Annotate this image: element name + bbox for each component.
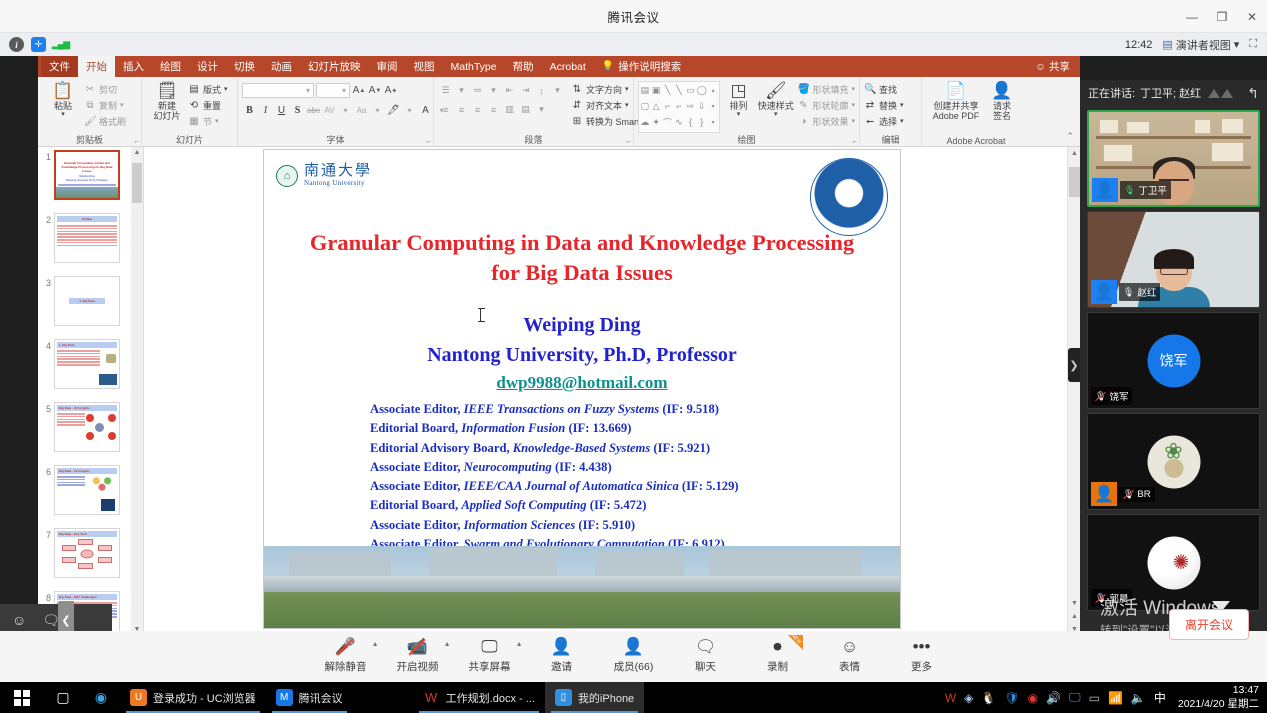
lightbulb-icon: 💡: [602, 61, 614, 72]
role-impact-factor: (IF: 9.518): [662, 402, 719, 416]
format-painter-label: 格式刷: [99, 115, 126, 128]
strikethrough-button[interactable]: abc: [306, 103, 321, 118]
role-impact-factor: (IF: 13.669): [568, 421, 631, 435]
share-label: 共享: [1049, 59, 1070, 74]
unmute-label: 解除静音: [325, 659, 367, 674]
find-label: 查找: [879, 83, 897, 96]
university-name-en: Nantong University: [304, 179, 372, 187]
shadow-button[interactable]: S: [290, 103, 305, 118]
tab-view[interactable]: 视图: [406, 56, 443, 77]
create-share-pdf-label: 创建并共享 Adobe PDF: [933, 101, 980, 122]
audio-options-caret-icon[interactable]: ▲: [372, 641, 379, 648]
ppt-body: 1 Granular Computing in Data and Knowled…: [38, 147, 1080, 636]
shape-more-up-icon[interactable]: ▴: [712, 87, 715, 94]
shape-outline-icon: ✎: [797, 100, 809, 111]
thumbnail-item-3[interactable]: 3 1. Big Data: [38, 273, 130, 336]
qq-tray-icon[interactable]: 🐧: [981, 691, 996, 705]
shape-more-down-icon[interactable]: ▾: [712, 103, 715, 110]
participant-badge: 🎙 BR: [1119, 487, 1155, 502]
cloud-shape-icon[interactable]: ☁: [640, 117, 649, 128]
role-journal: Neurocomputing: [464, 460, 552, 474]
clear-formatting-icon[interactable]: A✦: [384, 83, 398, 98]
role-journal: Knowledge-Based Systems: [513, 441, 650, 455]
avatar: [1147, 435, 1200, 488]
thumbnail-item-1[interactable]: 1 Granular Computing in Data and Knowled…: [38, 147, 130, 210]
flag-tray-icon[interactable]: ◈: [964, 691, 973, 705]
numbering-icon[interactable]: ≔: [470, 83, 485, 98]
shape-effects-button[interactable]: ◑ 形状效果 ▾: [797, 114, 855, 128]
taskbar-app-wps-doc[interactable]: W 工作规划.docx - ...: [413, 682, 545, 713]
tencent-meeting-icon: M: [276, 689, 293, 706]
highlight-caret-icon[interactable]: ▾: [402, 103, 417, 118]
triangle-shape-icon[interactable]: △: [653, 101, 660, 112]
decrease-indent-icon[interactable]: ⇤: [502, 83, 517, 98]
taskbar-app-label: 腾讯会议: [299, 690, 343, 706]
author-affiliation: Nantong University, Ph.D, Professor: [274, 340, 890, 370]
copy-button[interactable]: ⧉ 复制 ▾: [84, 98, 126, 112]
nantong-university-logo: ⌂ 南通大學 Nantong University: [276, 164, 372, 187]
left-brace-shape-icon[interactable]: {: [689, 117, 692, 127]
copy-label: 复制: [99, 99, 117, 112]
previous-slide-icon[interactable]: ▲: [1068, 610, 1080, 623]
right-arrow-shape-icon[interactable]: ⇨: [687, 101, 695, 112]
ribbon-group-font: ▾ ▾ A▲ A▼ A✦ B I U S abc AV ▾ Aa: [238, 77, 434, 147]
shape-outline-caret-icon: ▾: [851, 101, 855, 109]
quick-styles-button[interactable]: 🖌 快速样式 ▾: [757, 79, 794, 119]
presenter-view-label: 演讲者视图: [1176, 37, 1231, 53]
share-screen-button[interactable]: 🖵 共享屏幕 ▲: [463, 637, 517, 674]
role-journal: Information Sciences: [464, 518, 576, 532]
spacing-label: AV: [324, 106, 334, 115]
author-email[interactable]: dwp9988@hotmail.com: [274, 370, 890, 396]
thumbnail-1[interactable]: Granular Computing in Data and Knowledge…: [54, 150, 120, 200]
participant-name: 郭晨: [1109, 591, 1128, 605]
role-title: Associate Editor,: [370, 460, 461, 474]
role-impact-factor: (IF: 5.472): [590, 498, 647, 512]
arc-shape-icon[interactable]: ⌒: [663, 116, 672, 129]
role-title: Editorial Advisory Board,: [370, 441, 510, 455]
role-line: Editorial Board, Applied Soft Computing …: [370, 496, 900, 515]
iphone-icon: ▯: [555, 689, 572, 706]
thumbnail-7[interactable]: Big Data - Key Tech: [54, 528, 120, 578]
role-line: Associate Editor, Information Sciences (…: [370, 516, 900, 535]
thumbnail-number: 2: [40, 213, 54, 225]
bullets-icon[interactable]: ☰: [438, 83, 453, 98]
thumbnail-scroll-thumb[interactable]: [132, 163, 142, 203]
shape-effects-icon: ◑: [797, 116, 809, 127]
justify-icon[interactable]: ≡: [486, 102, 501, 117]
members-button[interactable]: 👤 成员(66): [607, 637, 661, 674]
ribbon-group-editing: 🔍 查找 ⇄ 替换 ▾ ⭠ 选择 ▾: [860, 77, 922, 147]
record-button[interactable]: ⏺ 录制 NEW: [751, 637, 805, 674]
start-video-button[interactable]: 📹 开启视频 ▲: [391, 637, 445, 674]
pdf-upload-icon: 📄: [945, 81, 966, 100]
round-rect-shape-icon[interactable]: ▢: [640, 101, 649, 112]
reset-label: 重置: [203, 99, 221, 112]
font-color-button[interactable]: A: [418, 103, 433, 118]
slide-scroll-up-icon[interactable]: ▲: [1068, 147, 1080, 160]
avatar: [1147, 536, 1200, 589]
role-title: Editorial Board,: [370, 498, 458, 512]
shape-fill-button[interactable]: 🪣 形状填充 ▾: [797, 82, 855, 96]
task-view-icon[interactable]: ▢: [44, 689, 82, 706]
columns-icon[interactable]: ▥: [502, 102, 517, 117]
leave-meeting-button[interactable]: 离开会议: [1169, 609, 1249, 640]
bold-label: B: [246, 105, 253, 116]
current-slide[interactable]: ⌂ 南通大學 Nantong University Granular Compu…: [263, 149, 901, 629]
increase-indent-icon[interactable]: ⇥: [518, 83, 533, 98]
line-shape-icon[interactable]: ╲: [665, 85, 670, 96]
maximize-icon[interactable]: ❐: [1207, 0, 1237, 33]
shape-gallery-more-icon[interactable]: ▾: [712, 119, 715, 126]
layout-label: 版式: [203, 83, 221, 96]
thumbnail-6[interactable]: Big Data - 4V Insights: [54, 465, 120, 515]
meeting-window-title: 腾讯会议: [607, 7, 659, 26]
case-caret-icon[interactable]: ▾: [370, 103, 385, 118]
drawing-group-label: 绘图: [634, 133, 859, 146]
mic-muted-icon: 🎙: [1095, 593, 1106, 604]
collapse-ribbon-icon[interactable]: ⌃: [1066, 131, 1080, 146]
shape-fill-label: 形状填充: [812, 83, 848, 96]
tab-file[interactable]: 文件: [41, 56, 78, 77]
mic-muted-icon: 🎤: [335, 637, 356, 657]
change-case-button[interactable]: Aa: [354, 103, 369, 118]
new-badge: NEW: [788, 635, 803, 650]
netease-music-tray-icon[interactable]: ◉: [1028, 691, 1038, 705]
shield-icon[interactable]: ✛: [31, 37, 46, 52]
thumbnail-header: Big Data - Key Tech: [57, 531, 117, 537]
shape-fill-icon: 🪣: [797, 84, 809, 95]
shape-effects-caret-icon: ▾: [851, 117, 855, 125]
columns-caret-icon[interactable]: ▾: [534, 102, 549, 117]
thumbnail-item-5[interactable]: 5 Big Data - 4V Insights: [38, 399, 130, 462]
role-title: Editorial Board,: [370, 421, 458, 435]
mic-muted-icon: 🎙: [1095, 391, 1106, 402]
thumbnail-5[interactable]: Big Data - 4V Insights: [54, 402, 120, 452]
text-direction-caret-icon: ▾: [625, 85, 629, 93]
bullets-caret-icon[interactable]: ▾: [454, 83, 469, 98]
request-signature-button[interactable]: 👤 请求 签名: [982, 79, 1022, 122]
layout-caret-icon: ▾: [224, 85, 228, 93]
wps-tray-icon[interactable]: W: [945, 691, 956, 705]
close-icon[interactable]: ✕: [1237, 0, 1267, 33]
smartart-icon: ⊞: [571, 116, 583, 127]
slide-scrollbar[interactable]: ▲ ▼ ▲ ▼: [1067, 147, 1080, 636]
tab-animations[interactable]: 动画: [263, 56, 300, 77]
replace-caret-icon: ▾: [900, 101, 904, 109]
video-label: 👤 🎙 赵红: [1091, 280, 1160, 304]
meeting-controls-bar: 🎤 解除静音 ▲ 📹 开启视频 ▲ 🖵 共享屏幕 ▲ 👤 邀请 👤 成员(66: [0, 631, 1267, 682]
paste-button[interactable]: 📋 粘贴 ▾: [42, 79, 84, 119]
slides-group-label: 幻灯片: [142, 133, 237, 146]
paste-caret-icon: ▾: [61, 111, 65, 119]
section-caret-icon: ▾: [215, 117, 219, 125]
volume-tray-icon[interactable]: 🔈: [1131, 691, 1146, 705]
curve-shape-icon[interactable]: ∿: [675, 117, 683, 128]
edge-icon[interactable]: ◉: [82, 689, 120, 706]
layout-button[interactable]: ▤ 版式 ▾: [188, 82, 228, 96]
acrobat-group-label: Adobe Acrobat: [922, 136, 1030, 146]
display-tray-icon[interactable]: 🖵: [1069, 690, 1081, 705]
align-center-icon[interactable]: ≡: [454, 102, 469, 117]
role-line: Editorial Board, Information Fusion (IF:…: [370, 419, 900, 438]
role-journal: Applied Soft Computing: [461, 498, 586, 512]
thumbnail-number: 5: [40, 402, 54, 414]
windows-taskbar: ▢ ◉ U 登录成功 - UC浏览器 M 腾讯会议 W 工作规划.docx - …: [0, 682, 1267, 713]
arrange-icon: ◳: [731, 81, 747, 100]
decrease-font-size-icon[interactable]: A▼: [368, 83, 382, 98]
paste-icon: 📋: [52, 81, 73, 100]
ribbon-tab-bar: 文件 开始 插入 绘图 设计 切换 动画 幻灯片放映 审阅 视图 MathTyp…: [38, 56, 1080, 77]
textbox-shape-icon[interactable]: ▤: [640, 85, 649, 96]
role-line: Associate Editor, IEEE Transactions on F…: [370, 400, 900, 419]
chat-label: 聊天: [695, 659, 716, 674]
arrange-label: 排列: [730, 101, 748, 111]
unmute-button[interactable]: 🎤 解除静音 ▲: [319, 637, 373, 674]
wifi-tray-icon[interactable]: 📶: [1108, 691, 1123, 705]
share-options-caret-icon[interactable]: ▲: [516, 641, 523, 648]
ribbon-group-slides: 🗒 新建 幻灯片 ▤ 版式 ▾ ⟲ 重置: [142, 77, 238, 147]
uc-browser-icon: U: [130, 689, 147, 706]
bent-shape-icon[interactable]: ⌐: [676, 101, 681, 111]
create-share-pdf-button[interactable]: 📄 创建并共享 Adobe PDF: [930, 79, 982, 122]
participant-badge: 🎙 饶军: [1091, 387, 1132, 405]
info-icon[interactable]: i: [9, 37, 24, 52]
format-painter-button[interactable]: 🖌 格式刷: [84, 114, 126, 128]
character-spacing-button[interactable]: AV: [322, 103, 337, 118]
thumbnail-number: 8: [40, 591, 54, 603]
replace-label: 替换: [879, 99, 897, 112]
participant-badge: 🎙 郭晨: [1091, 589, 1132, 607]
slide-title-line1: Granular Computing in Data and Knowledge…: [310, 230, 854, 255]
right-brace-shape-icon[interactable]: }: [700, 117, 703, 127]
role-journal: IEEE Transactions on Fuzzy Systems: [464, 402, 660, 416]
speaker-red-tray-icon[interactable]: 🔊: [1046, 691, 1061, 705]
tab-home[interactable]: 开始: [78, 56, 115, 77]
collapse-panel-button[interactable]: ❯: [1068, 348, 1080, 382]
quick-styles-label: 快速样式: [758, 101, 794, 111]
shape-effects-label: 形状效果: [812, 115, 848, 128]
star-shape-icon[interactable]: ✦: [652, 117, 660, 128]
tab-draw[interactable]: 绘图: [152, 56, 189, 77]
restore-panel-icon[interactable]: ↰: [1247, 85, 1259, 102]
thumbnail-number: 6: [40, 465, 54, 477]
video-options-caret-icon[interactable]: ▲: [444, 641, 451, 648]
role-journal: Information Fusion: [461, 421, 565, 435]
align-text-label: 对齐文本: [586, 99, 622, 112]
ime-tray-icon[interactable]: 中: [1154, 689, 1166, 706]
ribbon-group-paragraph: ☰▾ ≔▾ ⇤ ⇥ ↕▾ ≡ ≡ ≡ ≡ ▥ ▤▾: [434, 77, 634, 147]
tab-slideshow[interactable]: 幻灯片放映: [300, 56, 369, 77]
clipboard-dialog-launcher-icon[interactable]: ⌐: [134, 137, 139, 146]
thumbnail-2[interactable]: Outline: [54, 213, 120, 263]
fullscreen-icon[interactable]: ⛶: [1249, 38, 1257, 51]
tab-transitions[interactable]: 切换: [226, 56, 263, 77]
thumbnail-header: Big Data - 4V Insights: [57, 405, 117, 411]
tab-design[interactable]: 设计: [189, 56, 226, 77]
copy-icon: ⧉: [84, 100, 96, 111]
record-label: 录制: [767, 659, 788, 674]
video-tile-br[interactable]: 👤 🎙 BR: [1087, 413, 1260, 510]
section-button[interactable]: ▦ 节 ▾: [188, 114, 228, 128]
video-label: 🎙 饶军: [1091, 387, 1132, 405]
new-slide-label: 新建 幻灯片: [153, 101, 180, 122]
share-button[interactable]: ☺ 共享: [1025, 56, 1080, 77]
slide-thumbnail-pane[interactable]: 1 Granular Computing in Data and Knowled…: [38, 147, 144, 636]
slide-title-line2: for Big Data Issues: [491, 260, 672, 285]
tab-acrobat[interactable]: Acrobat: [542, 56, 594, 77]
tab-help[interactable]: 帮助: [505, 56, 542, 77]
thumbnail-item-6[interactable]: 6 Big Data - 4V Insights: [38, 462, 130, 525]
editorial-roles-list: Associate Editor, IEEE Transactions on F…: [264, 400, 900, 554]
select-button[interactable]: ⭠ 选择 ▾: [864, 114, 904, 128]
taskbar-app-my-iphone[interactable]: ▯ 我的iPhone: [545, 682, 644, 713]
thumbnail-number: 1: [40, 150, 54, 162]
taskbar-app-label: 我的iPhone: [578, 690, 634, 706]
slide-scroll-down-icon[interactable]: ▼: [1068, 597, 1080, 610]
taskbar-app-uc-browser[interactable]: U 登录成功 - UC浏览器: [120, 682, 266, 713]
role-journal: IEEE/CAA Journal of Automatica Sinica: [464, 479, 679, 493]
oval-shape-icon[interactable]: ◯: [697, 85, 707, 96]
reset-button[interactable]: ⟲ 重置: [188, 98, 228, 112]
invite-button[interactable]: 👤 邀请: [535, 637, 589, 674]
thumbnail-scrollbar[interactable]: ▲ ▼: [131, 147, 143, 636]
numbering-caret-icon[interactable]: ▾: [486, 83, 501, 98]
cursor-icon: ⭠: [864, 116, 876, 127]
more-button[interactable]: ••• 更多: [895, 637, 949, 674]
ribbon-group-clipboard: 📋 粘贴 ▾ ✂ 剪切 ⧉ 复制 ▾: [38, 77, 142, 147]
minimize-icon[interactable]: —: [1177, 0, 1207, 33]
new-slide-button[interactable]: 🗒 新建 幻灯片: [146, 79, 188, 122]
replace-button[interactable]: ⇄ 替换 ▾: [864, 98, 904, 112]
paragraph-dialog-launcher-icon[interactable]: ⌐: [626, 137, 631, 146]
role-title: Associate Editor,: [370, 518, 461, 532]
emoji-button[interactable]: ☺ 表情: [823, 637, 877, 674]
text-columns-icon[interactable]: ▤: [518, 102, 533, 117]
clock-time: 13:47: [1178, 684, 1259, 697]
taskbar-app-tencent-meeting[interactable]: M 腾讯会议: [266, 682, 353, 713]
clock-date: 2021/4/20 星期二: [1178, 698, 1259, 711]
video-tile-rao[interactable]: 饶军 🎙 饶军: [1087, 312, 1260, 409]
thumbnail-header: 1. Big Data: [69, 298, 105, 304]
video-tile-guo[interactable]: 🎙 郭晨: [1087, 514, 1260, 611]
arrange-caret-icon: ▾: [737, 111, 741, 119]
thumbnail-item-7[interactable]: 7 Big Data - Key Tech: [38, 525, 130, 588]
participant-name: 赵红: [1137, 285, 1156, 299]
chevron-down-icon: ▾: [1234, 38, 1240, 51]
meeting-buttons: 🎤 解除静音 ▲ 📹 开启视频 ▲ 🖵 共享屏幕 ▲ 👤 邀请 👤 成员(66: [319, 637, 949, 677]
shape-outline-button[interactable]: ✎ 形状轮廓 ▾: [797, 98, 855, 112]
corner-shape-icon[interactable]: ⌐: [665, 101, 670, 111]
slide-scroll-thumb[interactable]: [1069, 167, 1080, 197]
font-name-input[interactable]: ▾: [242, 83, 314, 98]
font-group-label: 字体: [238, 133, 433, 146]
thumbnail-number: 3: [40, 276, 54, 288]
meeting-timer: 12:42: [1125, 39, 1153, 51]
tab-review[interactable]: 审阅: [369, 56, 406, 77]
underline-label: U: [278, 105, 285, 116]
underline-button[interactable]: U: [274, 103, 289, 118]
font-dialog-launcher-icon[interactable]: ⌐: [426, 137, 431, 146]
align-left-icon[interactable]: ≡: [438, 102, 453, 117]
school-of-information-science-logo-icon: [810, 158, 888, 236]
font-color-label: A: [422, 105, 429, 116]
participant-video-panel: ❯ 正在讲话: 丁卫平; 赵红 ↰ 👤: [1080, 80, 1267, 633]
find-button[interactable]: 🔍 查找: [864, 82, 904, 96]
meeting-title-bar: 腾讯会议 — ❐ ✕: [0, 0, 1267, 33]
window-controls: — ❐ ✕: [1177, 0, 1267, 33]
text-highlight-button[interactable]: 🖊: [386, 103, 401, 118]
thumbnail-scroll-up-icon[interactable]: ▲: [131, 147, 143, 159]
arrange-button[interactable]: ◳ 排列 ▾: [720, 79, 757, 119]
rectangle-shape-icon[interactable]: ▭: [686, 85, 695, 96]
text-direction-icon: ⇅: [571, 84, 583, 95]
increase-font-size-icon[interactable]: A▲: [352, 83, 366, 98]
signal-icon[interactable]: ▂▄▆: [53, 37, 68, 52]
thumbnail-3[interactable]: 1. Big Data: [54, 276, 120, 326]
section-label: 节: [203, 115, 212, 128]
font-size-input[interactable]: ▾: [316, 83, 350, 98]
presenter-view-icon: ▤: [1162, 38, 1172, 51]
line-spacing-caret-icon[interactable]: ▾: [550, 83, 565, 98]
thumbnail-item-2[interactable]: 2 Outline: [38, 210, 130, 273]
security-shield-tray-icon[interactable]: 🛡: [1004, 691, 1019, 705]
text-direction-label: 文字方向: [586, 83, 622, 96]
video-label: 🎙 郭晨: [1091, 589, 1132, 607]
line-spacing-icon[interactable]: ↕: [534, 83, 549, 98]
emoji-mini-icon[interactable]: ☺: [12, 612, 26, 628]
cut-button[interactable]: ✂ 剪切: [84, 82, 126, 96]
chat-button[interactable]: 🗨 聊天: [679, 637, 733, 674]
taskbar-clock[interactable]: 13:47 2021/4/20 星期二: [1174, 684, 1259, 710]
down-arrow-shape-icon[interactable]: ⇩: [698, 101, 706, 112]
tab-insert[interactable]: 插入: [115, 56, 152, 77]
tell-me-search[interactable]: 💡 操作说明搜索: [594, 56, 689, 77]
video-tile-ding[interactable]: 👤 🎙 丁卫平: [1087, 110, 1260, 207]
align-right-icon[interactable]: ≡: [470, 102, 485, 117]
frame-shape-icon[interactable]: ▣: [652, 85, 661, 96]
spacing-caret-icon[interactable]: ▾: [338, 103, 353, 118]
video-tile-zhao[interactable]: 👤 🎙 赵红: [1087, 211, 1260, 308]
speaking-indicator-bar: 正在讲话: 丁卫平; 赵红 ↰: [1080, 80, 1267, 106]
invite-icon: 👤: [551, 637, 572, 657]
line2-shape-icon[interactable]: ╲: [676, 85, 681, 96]
battery-tray-icon[interactable]: ▭: [1089, 691, 1100, 705]
speaking-prefix: 正在讲话:: [1088, 85, 1135, 101]
tell-me-label: 操作说明搜索: [618, 59, 681, 74]
drawing-dialog-launcher-icon[interactable]: ⌐: [852, 137, 857, 146]
shape-gallery[interactable]: ▤ ▣ ╲ ╲ ▭ ◯ ▴ ▢ △ ⌐ ⌐ ⇨ ⇩ ▾ ☁: [638, 81, 720, 133]
camera-off-icon: 📹: [407, 637, 428, 657]
start-button[interactable]: [0, 690, 44, 706]
video-label: 👤 🎙 BR: [1091, 482, 1155, 506]
university-emblem-icon: ⌂: [276, 165, 298, 187]
italic-button[interactable]: I: [258, 103, 273, 118]
role-title: Associate Editor,: [370, 479, 461, 493]
align-text-icon: ⇵: [571, 100, 583, 111]
thumbnail-4[interactable]: 1. Big Data: [54, 339, 120, 389]
thumbnail-header: Outline: [57, 216, 117, 222]
bold-button[interactable]: B: [242, 103, 257, 118]
presenter-view-selector[interactable]: ▤ 演讲者视图 ▾: [1162, 37, 1239, 53]
tab-mathtype[interactable]: MathType: [443, 56, 505, 77]
role-impact-factor: (IF: 4.438): [555, 460, 612, 474]
ribbon-group-drawing: ▤ ▣ ╲ ╲ ▭ ◯ ▴ ▢ △ ⌐ ⌐ ⇨ ⇩ ▾ ☁: [634, 77, 860, 147]
scissors-icon: ✂: [84, 84, 96, 95]
slide-editing-area[interactable]: ⌂ 南通大學 Nantong University Granular Compu…: [144, 147, 1080, 636]
thumbnail-item-4[interactable]: 4 1. Big Data: [38, 336, 130, 399]
meeting-status-icons: i ✛ ▂▄▆: [0, 37, 68, 52]
